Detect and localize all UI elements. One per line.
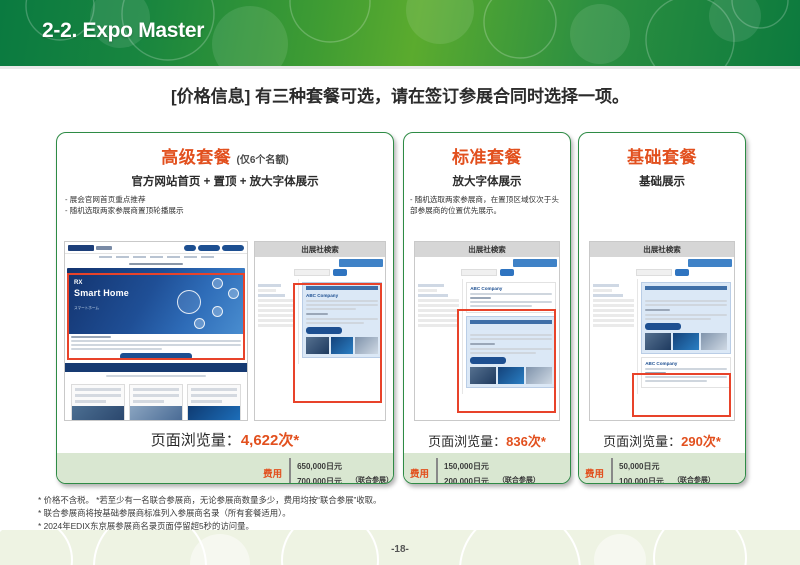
plan-card-basic[interactable]: 基础套餐 基础展示 出展社検索 — [578, 132, 746, 484]
plan-title-standard: 标准套餐 — [404, 143, 570, 168]
mock-cta-button[interactable] — [120, 353, 192, 360]
mock-company-name: ABC Company — [645, 361, 727, 366]
mock-screenshot-exhibitor-search: 出展社検索 — [414, 241, 560, 421]
mock-result-list: ABC Company — [299, 279, 385, 364]
plan-subtitle: 放大字体展示 — [404, 173, 570, 189]
mock-grid-card — [187, 384, 241, 421]
pageviews-label: 页面浏览量： — [428, 434, 506, 449]
plan-notes: - 展会官网首页重点推荐 - 随机选取两家参展商置顶轮播展示 — [65, 195, 385, 217]
mock-grid-card — [129, 384, 183, 421]
mock-grid-card — [71, 384, 125, 421]
mock-filter-sidebar[interactable] — [255, 279, 299, 364]
mock-hero-banner: RX Smart Home スマートホーム — [67, 268, 245, 334]
mock-company-name: ABC Company — [306, 293, 378, 298]
mock-filter-sidebar[interactable] — [415, 279, 463, 394]
plan-name: 基础套餐 — [627, 148, 697, 167]
mock-grid-image — [188, 406, 240, 421]
mock-register-button[interactable] — [339, 259, 383, 267]
user-icon — [212, 306, 223, 317]
mock-text-line — [71, 344, 241, 346]
pageviews-premium: 页面浏览量：4,622次* — [57, 429, 393, 450]
fee-joint-note: （联合参展） — [351, 475, 393, 484]
fee-values: 650,000日元 700,000日元 — [289, 458, 342, 484]
plan-name: 标准套餐 — [452, 148, 522, 167]
mock-result-list: ABC Company — [638, 279, 734, 394]
pageviews-value: 4,622次* — [241, 432, 299, 449]
page-title: 2-2. Expo Master — [42, 19, 204, 43]
fee-label: 费用 — [585, 466, 611, 480]
search-icon[interactable] — [500, 269, 514, 276]
screenshot-group-basic: 出展社検索 — [579, 241, 745, 421]
mock-grid-image — [130, 406, 182, 421]
mock-section-label — [129, 263, 184, 265]
plan-subtitle: 官方网站首页 + 置顶 + 放大字体展示 — [57, 173, 393, 189]
footnote-line: * 价格不含税。 *若至少有一名联合参展商，无论参展商数量多少，费用均按“联合参… — [38, 494, 778, 507]
mock-nav-pill — [184, 245, 196, 251]
fee-price-joint: 200,000日元 — [444, 473, 489, 484]
fee-price-standard: 50,000日元 — [619, 458, 664, 473]
search-input[interactable] — [461, 269, 497, 276]
mock-heading — [71, 336, 111, 338]
plan-title-premium: 高级套餐 (仅6个名额) — [57, 143, 393, 168]
device-icon — [194, 318, 205, 329]
mock-text-line — [106, 375, 206, 377]
mock-screenshot-header: 出展社検索 — [255, 242, 385, 257]
mock-company-name: ABC Company — [470, 286, 552, 291]
pageviews-label: 页面浏览量： — [603, 434, 681, 449]
mock-blue-band — [65, 363, 247, 372]
search-icon[interactable] — [675, 269, 689, 276]
pageviews-basic: 页面浏览量：290次* — [579, 431, 745, 450]
mock-filter-sidebar[interactable] — [590, 279, 638, 394]
mock-site-logo — [68, 245, 94, 251]
plan-name: 高级套餐 — [161, 148, 231, 167]
mock-site-logo-sub — [96, 246, 112, 250]
cloud-icon — [212, 278, 223, 289]
page-header-banner: 2-2. Expo Master — [0, 0, 800, 66]
screenshot-group-premium: RX Smart Home スマートホーム — [57, 241, 393, 421]
mock-result-list: ABC Company — [463, 279, 559, 394]
footnote-line: * 联合参展商将按基础参展商标准列入参展商名录（所有套餐适用）。 — [38, 507, 778, 520]
fee-price-joint: 100,000日元 — [619, 473, 664, 484]
mock-search-row[interactable] — [415, 269, 559, 276]
price-info-subtitle: [价格信息] 有三种套餐可选，请在签订参展合同时选择一项。 — [0, 82, 800, 107]
search-icon[interactable] — [333, 269, 347, 276]
footnotes: * 价格不含税。 *若至少有一名联合参展商，无论参展商数量多少，费用均按“联合参… — [38, 494, 778, 533]
mock-search-row[interactable] — [590, 269, 734, 276]
fee-joint-note: （联合参展） — [498, 475, 540, 484]
mock-result-item-top[interactable]: ABC Company — [466, 282, 556, 313]
fee-values: 150,000日元 200,000日元 — [436, 458, 489, 484]
fee-values: 50,000日元 100,000日元 — [611, 458, 664, 484]
screenshot-group-standard: 出展社検索 — [404, 241, 570, 421]
hero-subtitle: スマートホーム — [74, 306, 99, 311]
mock-result-item-featured[interactable]: ABC Company — [302, 282, 382, 358]
plan-cards-container: 高级套餐 (仅6个名额) 官方网站首页 + 置顶 + 放大字体展示 - 展会官网… — [0, 132, 800, 490]
plan-notes: - 随机选取两家参展商，在置顶区域仅次于头部参展商的位置优先展示。 — [410, 195, 564, 217]
fee-price-standard: 150,000日元 — [444, 458, 489, 473]
mock-register-button[interactable] — [688, 259, 732, 267]
mock-screenshot-header: 出展社検索 — [590, 242, 734, 257]
mock-result-item-basic[interactable]: ABC Company — [641, 357, 731, 388]
page-footer-band: -18- — [0, 530, 800, 565]
hero-brand: RX — [74, 280, 82, 286]
pageviews-standard: 页面浏览量：836次* — [404, 431, 570, 450]
fee-band-basic: 费用 50,000日元 100,000日元 （联合参展） — [579, 453, 745, 484]
home-icon — [177, 290, 201, 314]
fee-price-standard: 650,000日元 — [297, 458, 342, 473]
mock-thumbnails — [645, 333, 727, 350]
mock-screenshot-exhibitor-search: 出展社検索 — [589, 241, 735, 421]
mock-grid-image — [72, 406, 124, 421]
mock-search-row[interactable] — [255, 269, 385, 276]
mock-browser-bar — [65, 242, 247, 254]
search-input[interactable] — [294, 269, 330, 276]
plan-note-line: - 随机选取两家参展商，在置顶区域仅次于头部参展商的位置优先展示。 — [410, 195, 564, 217]
plan-card-premium[interactable]: 高级套餐 (仅6个名额) 官方网站首页 + 置顶 + 放大字体展示 - 展会官网… — [56, 132, 394, 484]
plan-note-line: - 展会官网首页重点推荐 — [65, 195, 385, 206]
mock-result-item-featured[interactable] — [466, 316, 556, 388]
pageviews-value: 836次* — [506, 434, 546, 449]
mock-result-item-featured[interactable] — [641, 282, 731, 354]
mock-screenshot-exhibitor-search: 出展社検索 — [254, 241, 386, 421]
search-input[interactable] — [636, 269, 672, 276]
mock-screenshot-homepage: RX Smart Home スマートホーム — [64, 241, 248, 421]
fee-band-standard: 费用 150,000日元 200,000日元 （联合参展） — [404, 453, 570, 484]
mock-text-line — [71, 340, 241, 342]
mock-screenshot-header: 出展社検索 — [415, 242, 559, 257]
fee-band-premium: 费用 650,000日元 700,000日元 （联合参展） — [57, 453, 393, 484]
mock-thumbnails — [306, 337, 378, 354]
fee-label: 费用 — [263, 466, 289, 480]
page-number: -18- — [0, 544, 800, 555]
plan-subtitle: 基础展示 — [579, 173, 745, 189]
mock-thumbnails — [470, 367, 552, 384]
hero-title: Smart Home — [74, 288, 129, 299]
mock-nav-pill — [198, 245, 220, 251]
fee-price-joint: 700,000日元 — [297, 473, 342, 484]
plan-title-basic: 基础套餐 — [579, 143, 745, 168]
pageviews-value: 290次* — [681, 434, 721, 449]
plan-note-line: - 随机选取两家参展商置顶轮播展示 — [65, 206, 385, 217]
fee-joint-note: （联合参展） — [673, 475, 715, 484]
mock-text-line — [71, 348, 162, 350]
mock-register-button[interactable] — [513, 259, 557, 267]
plan-quota: (仅6个名额) — [237, 155, 289, 166]
mock-hero-wrapper: RX Smart Home スマートホーム — [65, 263, 247, 360]
mock-hero-text: RX Smart Home — [74, 280, 129, 299]
chart-icon — [228, 288, 239, 299]
fee-label: 费用 — [410, 466, 436, 480]
pageviews-label: 页面浏览量： — [151, 432, 241, 449]
mock-card-grid — [65, 380, 247, 421]
mock-nav-menu — [65, 254, 247, 260]
plan-card-standard[interactable]: 标准套餐 放大字体展示 - 随机选取两家参展商，在置顶区域仅次于头部参展商的位置… — [403, 132, 571, 484]
mock-nav-pill — [222, 245, 244, 251]
banner-underline — [0, 66, 800, 69]
